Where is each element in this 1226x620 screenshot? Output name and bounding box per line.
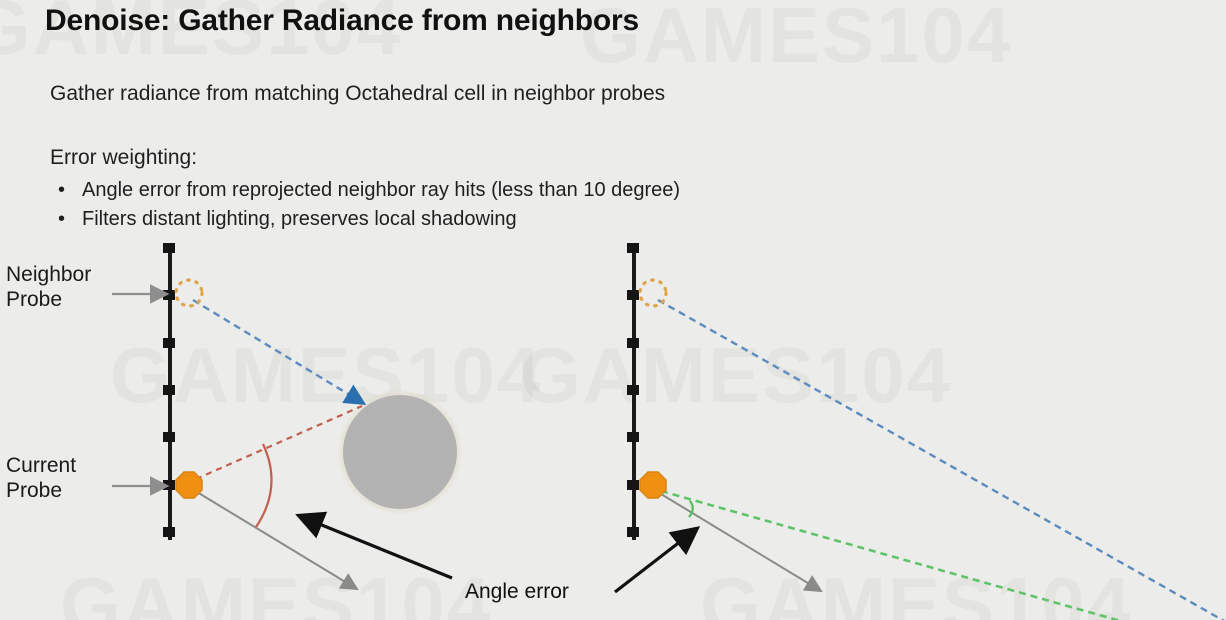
current-probe-label-line2: Probe	[6, 478, 76, 503]
matching-ray-green	[661, 491, 1124, 620]
current-ray-gray-right	[661, 494, 816, 588]
slide-canvas: GAMES104 GAMES104 GAMES104 GAMES104 GAME…	[0, 0, 1226, 620]
neighbor-probe-label-line2: Probe	[6, 287, 91, 312]
neighbor-probe-label: Neighbor Probe	[6, 262, 91, 312]
current-probe-marker-left	[176, 472, 202, 498]
neighbor-probe-marker-left	[176, 280, 202, 306]
neighbor-probe-marker-right	[640, 280, 666, 306]
current-probe-marker-right	[640, 472, 666, 498]
probe-denoise-diagram	[0, 0, 1226, 620]
angle-arc-left	[256, 444, 272, 527]
angle-error-callout-arrow-right	[615, 534, 690, 592]
neighbor-ray-blue-right	[658, 300, 1226, 620]
reprojected-ray-red	[196, 406, 362, 479]
neighbor-probe-label-line1: Neighbor	[6, 262, 91, 287]
neighbor-ray-blue	[193, 300, 358, 400]
left-panel-group	[163, 243, 463, 586]
right-panel-group	[627, 243, 1226, 620]
current-probe-label-line1: Current	[6, 453, 76, 478]
angle-arc-right	[689, 501, 693, 517]
occluder-sphere	[343, 395, 457, 509]
current-ray-gray	[197, 492, 352, 586]
angle-error-label: Angle error	[465, 580, 569, 604]
current-probe-label: Current Probe	[6, 453, 76, 503]
angle-error-callout-arrow-left	[307, 519, 452, 578]
